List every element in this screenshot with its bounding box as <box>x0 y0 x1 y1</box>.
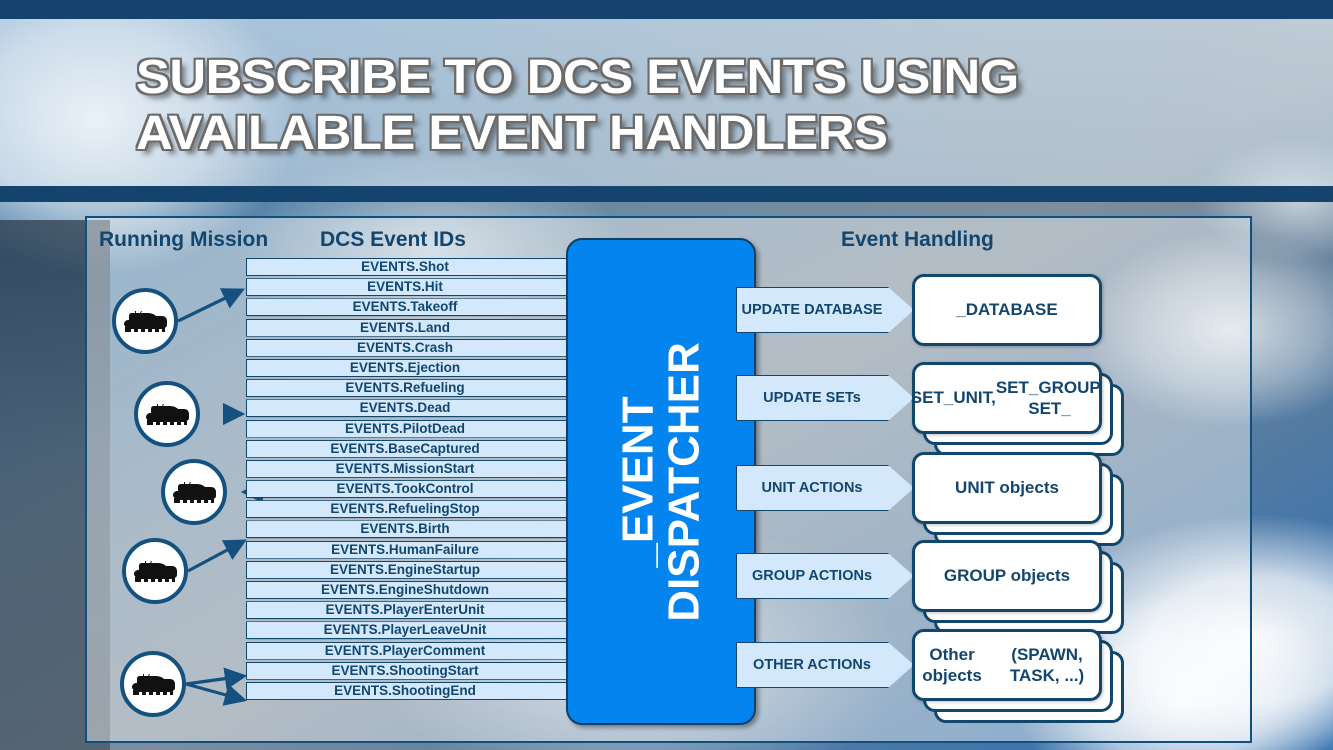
event-id-row[interactable]: EVENTS.ShootingStart <box>246 662 579 682</box>
handler-action-label: UPDATE DATABASE <box>737 288 887 334</box>
tank-glyph <box>122 308 168 334</box>
handler-action-arrow[interactable]: UPDATE DATABASE <box>736 287 914 333</box>
event-id-label: EVENTS.ShootingEnd <box>246 682 564 700</box>
handler-action-label: UNIT ACTIONs <box>737 466 887 512</box>
event-id-row[interactable]: EVENTS.PlayerComment <box>246 642 579 662</box>
event-id-label: EVENTS.Shot <box>246 258 564 276</box>
column-header-dcs-event-ids: DCS Event IDs <box>320 228 466 252</box>
column-header-event-handling: Event Handling <box>841 228 994 252</box>
handler-target-label: Other objects(SPAWN, TASK, ...) <box>912 629 1102 701</box>
page-title-line-1: SUBSCRIBE TO DCS EVENTS USING <box>136 50 1249 106</box>
event-id-row[interactable]: EVENTS.Hit <box>246 278 579 298</box>
tank-glyph <box>171 479 217 505</box>
event-id-label: EVENTS.Dead <box>246 399 564 417</box>
event-id-row[interactable]: EVENTS.Shot <box>246 258 579 278</box>
event-id-row[interactable]: EVENTS.ShootingEnd <box>246 682 579 702</box>
slide-canvas: SUBSCRIBE TO DCS EVENTS USING AVAILABLE … <box>0 0 1333 750</box>
handler-target-label: SET_UNIT,SET_GROUP, SET_ <box>912 362 1102 434</box>
handler-action-arrow[interactable]: UNIT ACTIONs <box>736 465 914 511</box>
handler-action-arrow[interactable]: GROUP ACTIONs <box>736 553 914 599</box>
event-id-label: EVENTS.PlayerEnterUnit <box>246 601 564 619</box>
event-id-label: EVENTS.Ejection <box>246 359 564 377</box>
handler-target-card[interactable]: GROUP objects <box>912 540 1102 612</box>
handler-action-label: UPDATE SETs <box>737 376 887 422</box>
event-id-row[interactable]: EVENTS.Refueling <box>246 379 579 399</box>
event-dispatcher-label: _EVENT DISPATCHER <box>615 342 707 622</box>
event-id-label: EVENTS.Hit <box>246 278 564 296</box>
event-id-label: EVENTS.TookControl <box>246 480 564 498</box>
event-id-label: EVENTS.Crash <box>246 339 564 357</box>
event-id-label: EVENTS.MissionStart <box>246 460 564 478</box>
event-id-label: EVENTS.PilotDead <box>246 420 564 438</box>
event-id-label: EVENTS.Birth <box>246 520 564 538</box>
handler-action-label: GROUP ACTIONs <box>737 554 887 600</box>
event-id-label: EVENTS.EngineStartup <box>246 561 564 579</box>
event-id-label: EVENTS.Refueling <box>246 379 564 397</box>
handler-target-label: _DATABASE <box>912 274 1102 346</box>
event-id-list: EVENTS.ShotEVENTS.HitEVENTS.TakeoffEVENT… <box>246 258 579 702</box>
unit-icon-5[interactable] <box>120 651 186 717</box>
column-header-running-mission: Running Mission <box>99 228 268 252</box>
event-id-row[interactable]: EVENTS.Dead <box>246 399 579 419</box>
event-id-label: EVENTS.Takeoff <box>246 298 564 316</box>
unit-icon-4[interactable] <box>122 538 188 604</box>
page-title-line-2: AVAILABLE EVENT HANDLERS <box>136 106 1249 162</box>
handler-target-card[interactable]: Other objects(SPAWN, TASK, ...) <box>912 629 1102 701</box>
tank-glyph <box>132 558 178 584</box>
handler-target-card[interactable]: UNIT objects <box>912 452 1102 524</box>
handler-target-label: GROUP objects <box>912 540 1102 612</box>
event-id-label: EVENTS.BaseCaptured <box>246 440 564 458</box>
unit-icon-1[interactable] <box>112 288 178 354</box>
event-id-row[interactable]: EVENTS.PlayerEnterUnit <box>246 601 579 621</box>
handler-target-card[interactable]: _DATABASE <box>912 274 1102 346</box>
event-id-row[interactable]: EVENTS.EngineStartup <box>246 561 579 581</box>
event-id-row[interactable]: EVENTS.PilotDead <box>246 420 579 440</box>
handler-action-arrow[interactable]: OTHER ACTIONs <box>736 642 914 688</box>
event-id-row[interactable]: EVENTS.EngineShutdown <box>246 581 579 601</box>
event-id-label: EVENTS.RefuelingStop <box>246 500 564 518</box>
event-id-row[interactable]: EVENTS.Birth <box>246 520 579 540</box>
event-id-label: EVENTS.PlayerLeaveUnit <box>246 621 564 639</box>
event-id-label: EVENTS.EngineShutdown <box>246 581 564 599</box>
handler-target-card[interactable]: SET_UNIT,SET_GROUP, SET_ <box>912 362 1102 434</box>
event-id-label: EVENTS.HumanFailure <box>246 541 564 559</box>
dispatcher-label-line-1: _EVENT <box>615 342 661 622</box>
event-id-row[interactable]: EVENTS.Takeoff <box>246 298 579 318</box>
unit-icon-3[interactable] <box>161 459 227 525</box>
handler-target-label: UNIT objects <box>912 452 1102 524</box>
dispatcher-label-line-2: DISPATCHER <box>661 342 707 622</box>
handler-action-arrow[interactable]: UPDATE SETs <box>736 375 914 421</box>
tank-glyph <box>130 671 176 697</box>
event-id-row[interactable]: EVENTS.RefuelingStop <box>246 500 579 520</box>
event-id-label: EVENTS.Land <box>246 319 564 337</box>
tank-glyph <box>144 401 190 427</box>
title-band-bottom-rule <box>0 186 1333 202</box>
event-id-row[interactable]: EVENTS.Crash <box>246 339 579 359</box>
event-id-row[interactable]: EVENTS.MissionStart <box>246 460 579 480</box>
page-title: SUBSCRIBE TO DCS EVENTS USING AVAILABLE … <box>136 50 1249 161</box>
title-band-top-rule <box>0 0 1333 19</box>
event-id-row[interactable]: EVENTS.BaseCaptured <box>246 440 579 460</box>
event-dispatcher-block[interactable]: _EVENT DISPATCHER <box>566 238 756 725</box>
event-id-label: EVENTS.ShootingStart <box>246 662 564 680</box>
handler-action-label: OTHER ACTIONs <box>737 643 887 689</box>
event-id-row[interactable]: EVENTS.Land <box>246 319 579 339</box>
event-id-row[interactable]: EVENTS.TookControl <box>246 480 579 500</box>
event-id-row[interactable]: EVENTS.Ejection <box>246 359 579 379</box>
event-id-row[interactable]: EVENTS.HumanFailure <box>246 541 579 561</box>
event-id-label: EVENTS.PlayerComment <box>246 642 564 660</box>
unit-icon-2[interactable] <box>134 381 200 447</box>
event-id-row[interactable]: EVENTS.PlayerLeaveUnit <box>246 621 579 641</box>
